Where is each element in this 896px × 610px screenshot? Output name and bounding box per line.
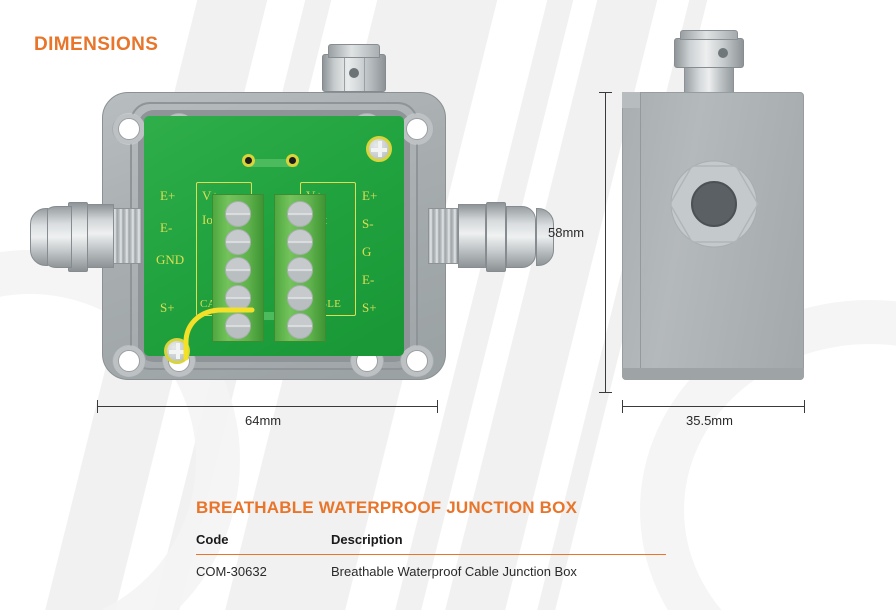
terminal-screw [287,313,313,339]
pcb-via [286,154,299,167]
terminal-screw [225,201,251,227]
terminal-block-right [274,194,326,342]
silk-label-left-1: E- [160,220,172,236]
product-table-title: BREATHABLE WATERPROOF JUNCTION BOX [196,498,666,518]
ground-wire [168,286,258,406]
pcb-screw [366,136,392,162]
dim-tick-height-top [599,92,612,93]
pcb-board: E+ E- GND S+ V+ Iout CABLE V+ Iout CABLE… [144,116,404,356]
mounting-hole [406,350,428,372]
side-view-diagram [600,28,840,403]
side-vent-screw-dot [718,48,728,58]
page-title: DIMENSIONS [34,34,158,56]
terminal-screw [225,229,251,255]
product-table-block: BREATHABLE WATERPROOF JUNCTION BOX Code … [196,498,666,579]
silk-label-right-1: S- [362,216,374,232]
cell-code: COM-30632 [196,555,331,580]
mounting-hole [118,350,140,372]
side-enclosure-base [622,368,804,380]
vent-screw-dot [349,68,359,78]
dim-tick-width-right [437,400,438,413]
side-lid-notch [622,92,641,108]
dim-tick-depth-right [804,400,805,413]
mounting-hole [118,118,140,140]
silk-label-right-0: E+ [362,188,377,204]
top-view-diagram: E+ E- GND S+ V+ Iout CABLE V+ Iout CABLE… [88,28,508,403]
dim-line-width [97,406,437,407]
dim-label-depth: 35.5mm [686,413,733,428]
silk-label-right-3: E- [362,272,374,288]
silk-label-left-2: GND [156,252,184,268]
column-header-description: Description [331,532,666,555]
dim-label-height: 58mm [548,225,584,240]
side-breather-vent-cap [674,38,744,68]
silk-label-left-0: E+ [160,188,175,204]
column-header-code: Code [196,532,331,555]
product-table: Code Description COM-30632 Breathable Wa… [196,532,666,579]
dim-label-width: 64mm [245,413,281,428]
side-lid-seam [640,92,641,380]
table-row: COM-30632 Breathable Waterproof Cable Ju… [196,555,666,580]
silk-label-right-4: S+ [362,300,377,316]
dim-tick-width-left [97,400,98,413]
terminal-screw [225,257,251,283]
breather-vent-top [328,44,380,58]
side-vent-top [680,30,738,40]
dim-line-depth [622,406,804,407]
terminal-screw [287,285,313,311]
terminal-screw [287,257,313,283]
table-header-row: Code Description [196,532,666,555]
dim-line-height [605,92,606,392]
mounting-hole [406,118,428,140]
terminal-screw [287,229,313,255]
silk-label-right-2: G [362,244,371,260]
side-cable-gland-hex-nut [666,156,762,252]
pcb-via [242,154,255,167]
datasheet-page: DIMENSIONS [0,0,896,610]
terminal-screw [287,201,313,227]
cell-description: Breathable Waterproof Cable Junction Box [331,555,666,580]
dim-tick-height-bottom [599,392,612,393]
dim-tick-depth-left [622,400,623,413]
